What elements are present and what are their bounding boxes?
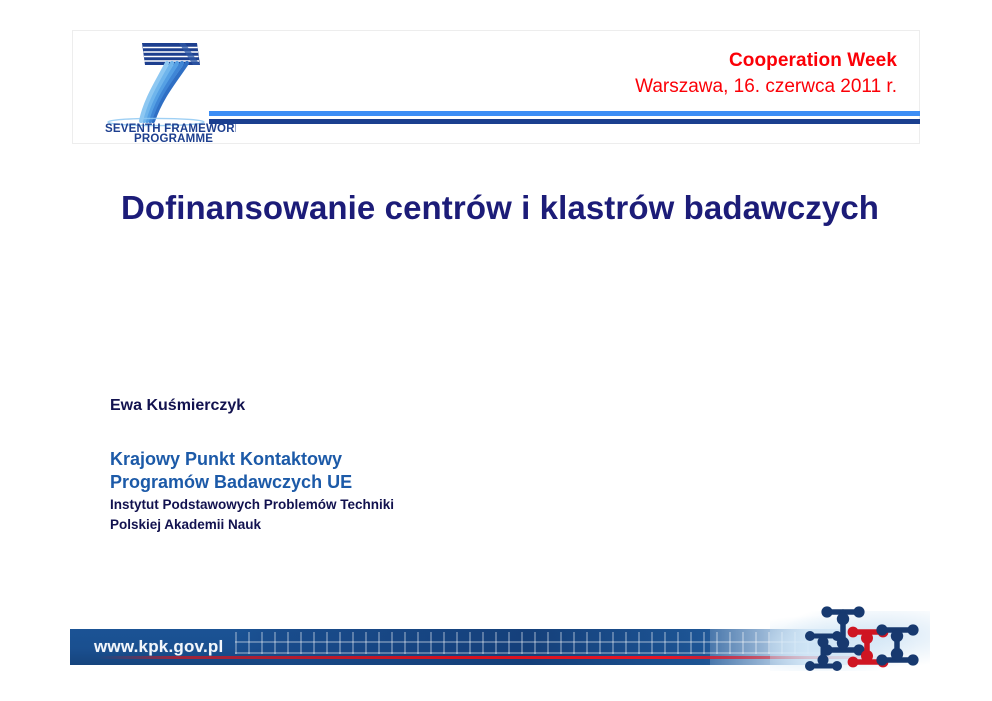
- organization-line-2: Programów Badawczych UE: [110, 471, 630, 494]
- header-rule-dark: [209, 119, 920, 124]
- fp7-logo: SEVENTH FRAMEWORK PROGRAMME: [101, 35, 236, 143]
- fp7-wordmark-line2: PROGRAMME: [134, 133, 213, 143]
- slide-footer: www.kpk.gov.pl: [70, 629, 922, 665]
- presentation-slide: SEVENTH FRAMEWORK PROGRAMME Cooperation …: [0, 0, 992, 701]
- slide-header: SEVENTH FRAMEWORK PROGRAMME Cooperation …: [72, 30, 920, 144]
- author-block: Ewa Kuśmierczyk Krajowy Punkt Kontaktowy…: [110, 396, 630, 534]
- molecule-cluster-icon: [805, 602, 935, 672]
- header-event-info: Cooperation Week Warszawa, 16. czerwca 2…: [635, 49, 897, 98]
- institute-line-2: Polskiej Akademii Nauk: [110, 516, 630, 534]
- event-title: Cooperation Week: [635, 49, 897, 73]
- page-title: Dofinansowanie centrów i klastrów badawc…: [110, 186, 890, 230]
- header-rule-light: [209, 111, 920, 116]
- event-date: Warszawa, 16. czerwca 2011 r.: [635, 75, 897, 99]
- footer-url[interactable]: www.kpk.gov.pl: [94, 637, 223, 657]
- institute-line-1: Instytut Podstawowych Problemów Techniki: [110, 496, 630, 514]
- author-name: Ewa Kuśmierczyk: [110, 396, 630, 415]
- organization-block: Krajowy Punkt Kontaktowy Programów Badaw…: [110, 448, 630, 534]
- organization-line-1: Krajowy Punkt Kontaktowy: [110, 448, 630, 471]
